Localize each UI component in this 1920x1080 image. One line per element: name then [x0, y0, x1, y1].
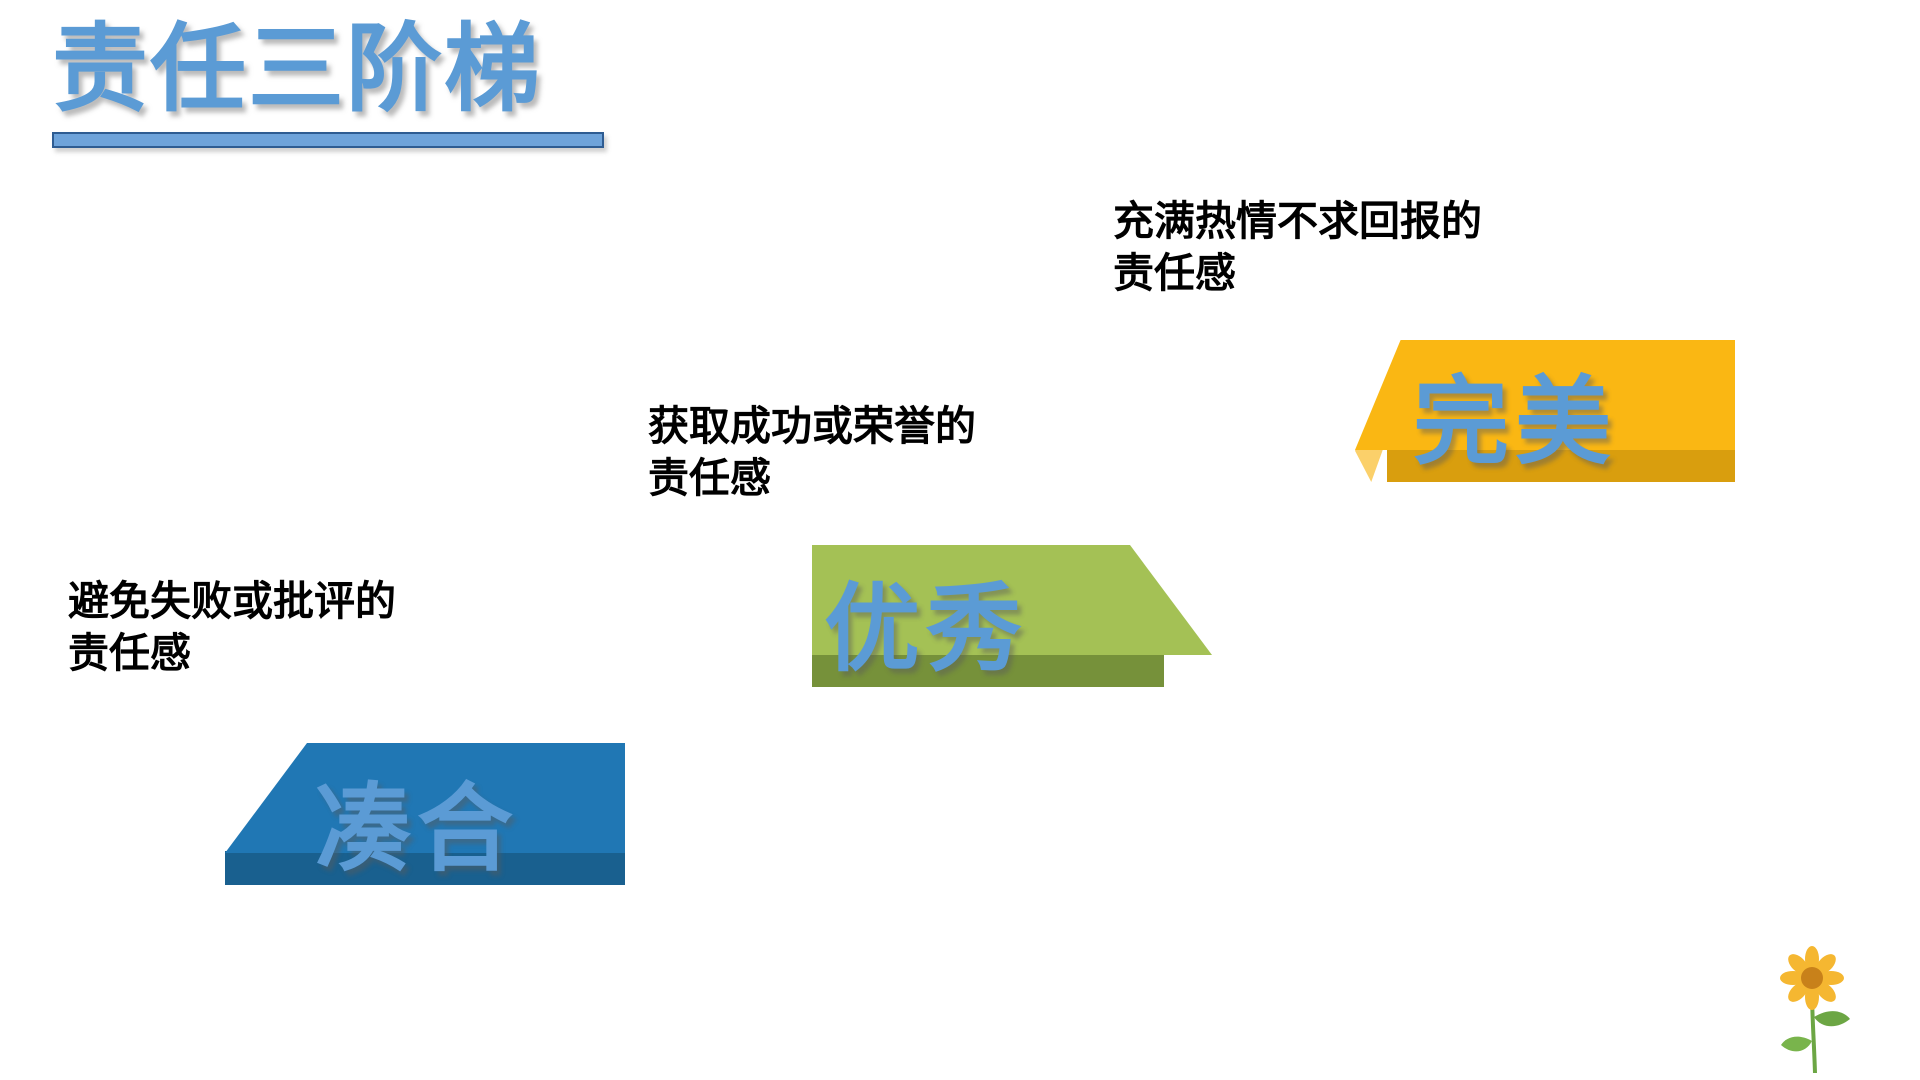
- step-solid-3: 完美: [1355, 340, 1775, 500]
- step-solid-1: 凑合: [225, 743, 645, 908]
- step-front-face-3: [1387, 448, 1735, 482]
- slide-canvas: 责任三阶梯 避免失败或批评的 责任感 凑合 获取成功或荣誉的 责任感 优秀 充满…: [0, 0, 1920, 1080]
- step-caption-1: 避免失败或批评的 责任感: [68, 575, 396, 680]
- step-solid-2: 优秀: [812, 545, 1232, 705]
- step-top-face-1: [225, 743, 625, 853]
- step-caption-2: 获取成功或荣誉的 责任感: [648, 400, 976, 505]
- page-title: 责任三阶梯: [52, 18, 672, 122]
- step-top-face-2: [812, 545, 1212, 655]
- title-block: 责任三阶梯: [52, 18, 672, 148]
- step-block-1[interactable]: 避免失败或批评的 责任感 凑合: [60, 575, 620, 915]
- title-underline-rule: [52, 132, 604, 148]
- step-block-3[interactable]: 充满热情不求回报的 责任感 完美: [1105, 195, 1705, 525]
- step-top-face-3: [1355, 340, 1735, 450]
- sunflower-icon: [1760, 945, 1870, 1075]
- step-front-face-1: [225, 851, 625, 885]
- step-caption-3: 充满热情不求回报的 责任感: [1113, 195, 1482, 300]
- step-front-face-2: [812, 653, 1164, 687]
